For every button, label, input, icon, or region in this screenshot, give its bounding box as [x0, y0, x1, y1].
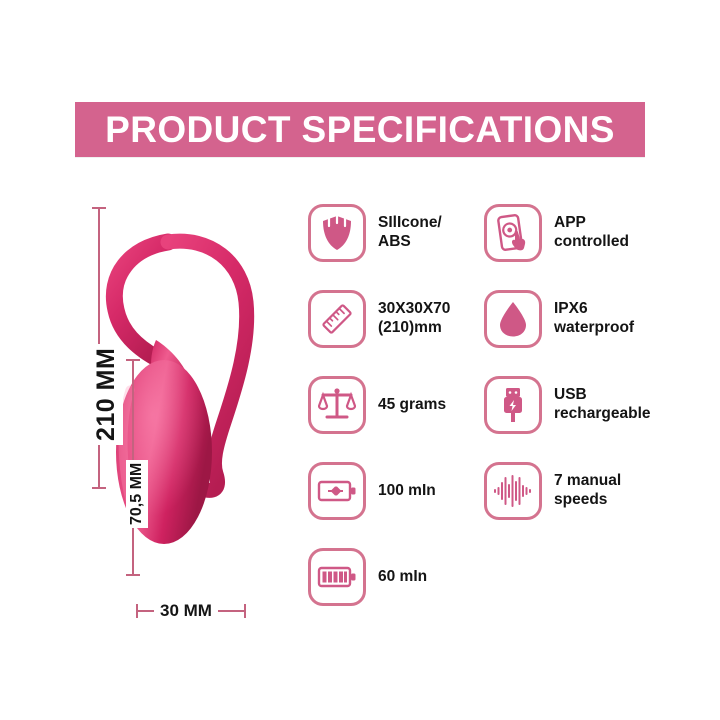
battery-full-icon — [317, 565, 357, 589]
spec-icon-box-app-control — [484, 204, 542, 262]
spec-icon-box-waterproof — [484, 290, 542, 348]
page-title-banner: PRODUCT SPECIFICATIONS — [75, 102, 645, 157]
spec-label-weight: 45 grams — [378, 396, 446, 415]
spec-icon-box-charge-time — [308, 462, 366, 520]
dimension-cap-width-left — [136, 604, 138, 618]
spec-item-dimensions: 30X30X70 (210)mm — [308, 282, 468, 356]
specification-grid: SIlIcone/ ABS APP controlled — [308, 196, 668, 614]
balance-scale-icon — [318, 387, 356, 423]
spec-item-weight: 45 grams — [308, 368, 468, 442]
waveform-icon — [493, 474, 533, 508]
dimension-label-total-length: 210 MM — [90, 344, 123, 445]
dimension-cap-width-right — [244, 604, 246, 618]
spec-label-app-control-line1: APP — [554, 214, 586, 231]
spec-label-material-line1: SIlIcone/ — [378, 214, 442, 231]
spec-label-speeds-line2: speeds — [554, 491, 621, 510]
spec-item-material: SIlIcone/ ABS — [308, 196, 468, 270]
spec-label-waterproof: IPX6 waterproof — [554, 300, 634, 338]
spec-item-app-control: APP controlled — [484, 196, 644, 270]
spec-item-speeds: 7 manual speeds — [484, 454, 644, 528]
water-drop-icon — [497, 300, 529, 338]
spec-label-charge-time-line1: 100 mIn — [378, 482, 436, 499]
spec-label-charging: USB rechargeable — [554, 386, 651, 424]
dimension-cap-body-top — [126, 359, 140, 361]
ruler-icon — [319, 301, 355, 337]
spec-icon-box-speeds — [484, 462, 542, 520]
spec-item-waterproof: IPX6 waterproof — [484, 282, 644, 356]
shield-icon — [320, 215, 354, 251]
spec-label-dimensions: 30X30X70 (210)mm — [378, 300, 450, 338]
usb-plug-icon — [499, 386, 527, 424]
product-specifications-infographic: PRODUCT SPECIFICATIONS — [0, 0, 720, 720]
product-image-area: 210 MM 70,5 MM 30 MM — [60, 190, 310, 640]
dimension-cap-total-bottom — [92, 487, 106, 489]
spec-item-run-time: 60 mIn — [308, 540, 468, 614]
spec-icon-box-weight — [308, 376, 366, 434]
spec-label-app-control-line2: controlled — [554, 233, 629, 252]
battery-charging-icon — [317, 479, 357, 503]
spec-item-charge-time: 100 mIn — [308, 454, 468, 528]
spec-label-speeds-line1: 7 manual — [554, 472, 621, 489]
spec-label-weight-line1: 45 grams — [378, 396, 446, 413]
spec-label-charging-line2: rechargeable — [554, 405, 651, 424]
spec-label-waterproof-line1: IPX6 — [554, 300, 588, 317]
spec-label-material-line2: ABS — [378, 233, 442, 252]
dimension-label-body-width: 30 MM — [154, 601, 218, 621]
phone-tap-icon — [495, 214, 531, 252]
dimension-cap-total-top — [92, 207, 106, 209]
spec-label-dimensions-line1: 30X30X70 — [378, 300, 450, 317]
spec-icon-box-charging — [484, 376, 542, 434]
spec-icon-box-run-time — [308, 548, 366, 606]
spec-label-app-control: APP controlled — [554, 214, 629, 252]
spec-label-waterproof-line2: waterproof — [554, 319, 634, 338]
dimension-cap-body-bottom — [126, 574, 140, 576]
spec-label-run-time-line1: 60 mIn — [378, 568, 427, 585]
spec-item-charging: USB rechargeable — [484, 368, 644, 442]
spec-label-charging-line1: USB — [554, 386, 587, 403]
spec-label-dimensions-line2: (210)mm — [378, 319, 450, 338]
spec-label-run-time: 60 mIn — [378, 568, 427, 587]
spec-label-speeds: 7 manual speeds — [554, 472, 621, 510]
spec-icon-box-material — [308, 204, 366, 262]
spec-label-charge-time: 100 mIn — [378, 482, 436, 501]
dimension-label-body-length: 70,5 MM — [126, 460, 148, 528]
spec-icon-box-dimensions — [308, 290, 366, 348]
spec-label-material: SIlIcone/ ABS — [378, 214, 442, 252]
page-title: PRODUCT SPECIFICATIONS — [105, 111, 615, 148]
